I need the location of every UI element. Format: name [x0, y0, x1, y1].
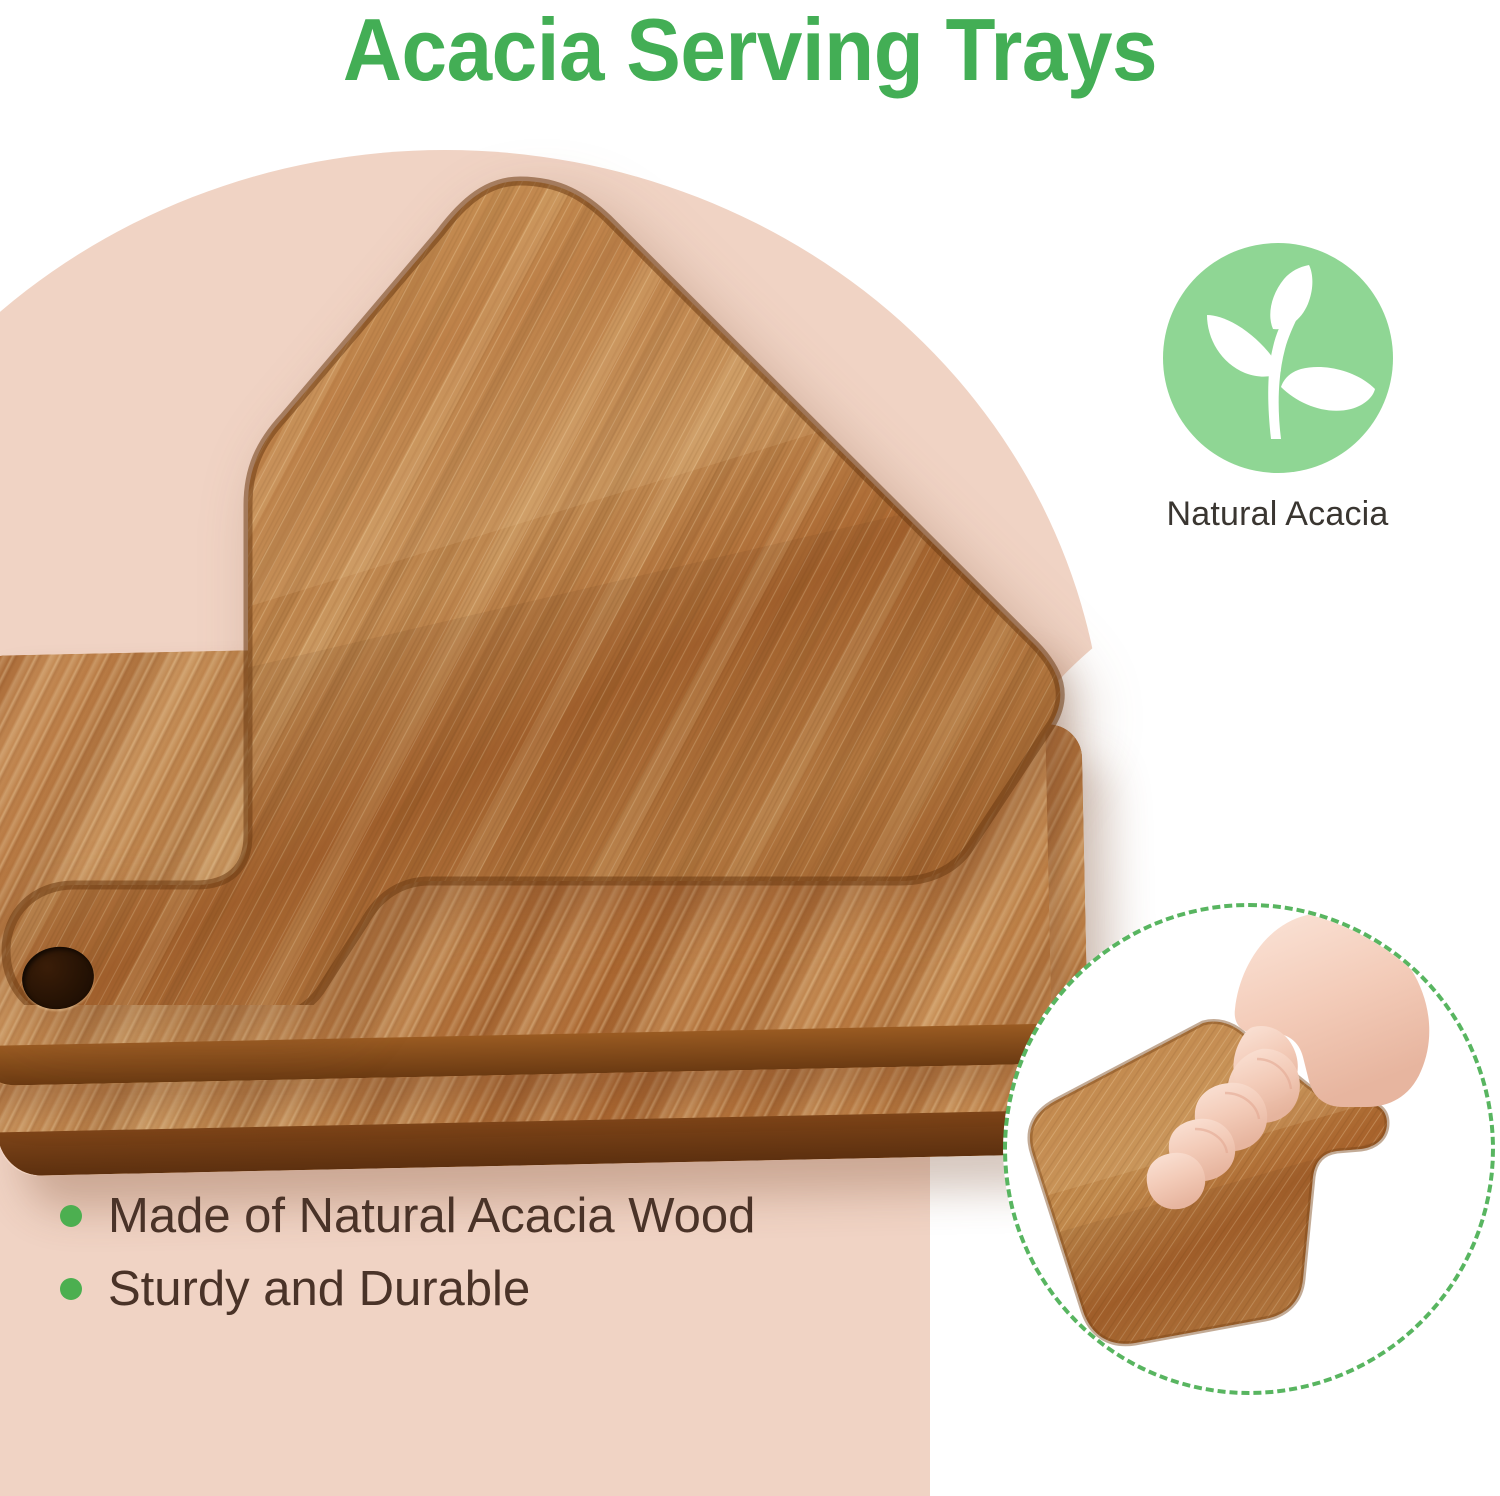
list-item-label: Sturdy and Durable	[108, 1261, 530, 1318]
list-item: Made of Natural Acacia Wood	[60, 1188, 940, 1245]
sprout-leaf-icon	[1163, 243, 1393, 473]
acacia-tray-stack	[0, 175, 1140, 1055]
product-infographic: Acacia Serving Trays	[0, 0, 1500, 1496]
list-item: Sturdy and Durable	[60, 1261, 940, 1318]
list-item-label: Made of Natural Acacia Wood	[108, 1188, 755, 1245]
tray-board-top	[0, 175, 1070, 1005]
page-title: Acacia Serving Trays	[53, 2, 1448, 98]
bullet-dot-icon	[60, 1205, 82, 1227]
bullet-dot-icon	[60, 1278, 82, 1300]
inset-illustration	[1007, 907, 1491, 1391]
badge-circle	[1163, 243, 1393, 473]
badge-label: Natural Acacia	[1150, 495, 1405, 534]
feature-list: Made of Natural Acacia Wood Sturdy and D…	[60, 1188, 940, 1334]
hand-holding-board-inset	[1003, 903, 1495, 1395]
natural-acacia-badge: Natural Acacia	[1150, 243, 1405, 553]
